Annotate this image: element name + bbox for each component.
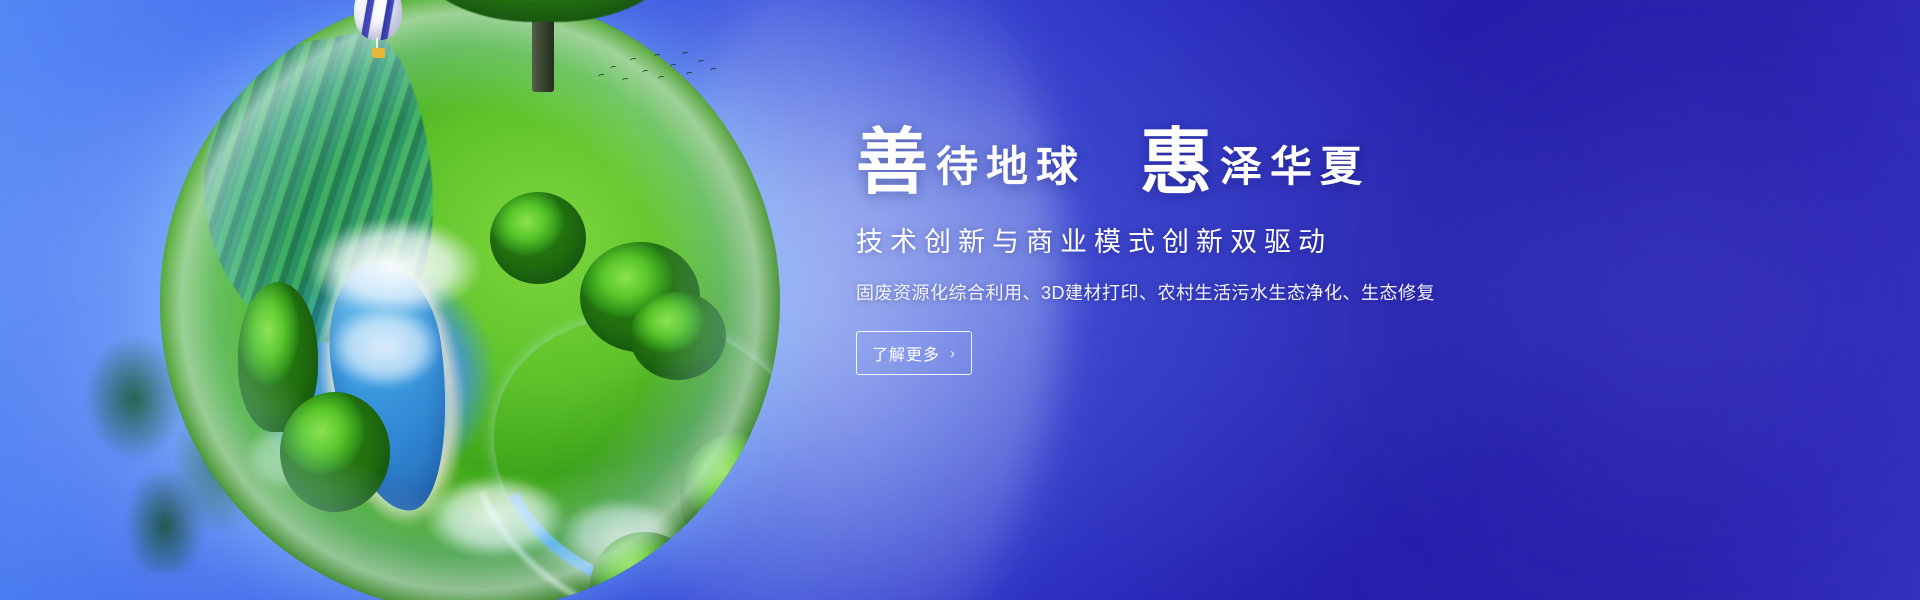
hero-banner: 善 待地球 惠 泽华夏 技术创新与商业模式创新双驱动 固废资源化综合利用、3D建… — [0, 0, 1920, 600]
hot-air-balloon-icon — [354, 0, 402, 66]
hero-copy-block: 善 待地球 惠 泽华夏 技术创新与商业模式创新双驱动 固废资源化综合利用、3D建… — [856, 128, 1556, 375]
green-planet-image — [120, 0, 820, 600]
birds-flock-icon — [596, 48, 726, 90]
description: 固废资源化综合利用、3D建材打印、农村生活污水生态净化、生态修复 — [856, 279, 1556, 305]
headline-part2-large: 惠 — [1140, 128, 1212, 196]
chevron-right-icon: › — [950, 345, 956, 362]
planet-sphere — [160, 0, 780, 600]
planet-atmosphere-rim — [160, 0, 780, 600]
tree-canopy-icon — [420, 0, 670, 22]
learn-more-button[interactable]: 了解更多 › — [856, 331, 972, 375]
headline: 善 待地球 惠 泽华夏 — [856, 128, 1556, 196]
headline-part1-small: 待地球 — [928, 146, 1086, 196]
subtitle: 技术创新与商业模式创新双驱动 — [856, 220, 1556, 259]
learn-more-label: 了解更多 — [872, 341, 940, 365]
balloon-envelope — [354, 0, 402, 40]
headline-part1-large: 善 — [856, 128, 928, 196]
headline-part2-small: 泽华夏 — [1212, 146, 1370, 196]
balloon-basket — [372, 48, 385, 58]
